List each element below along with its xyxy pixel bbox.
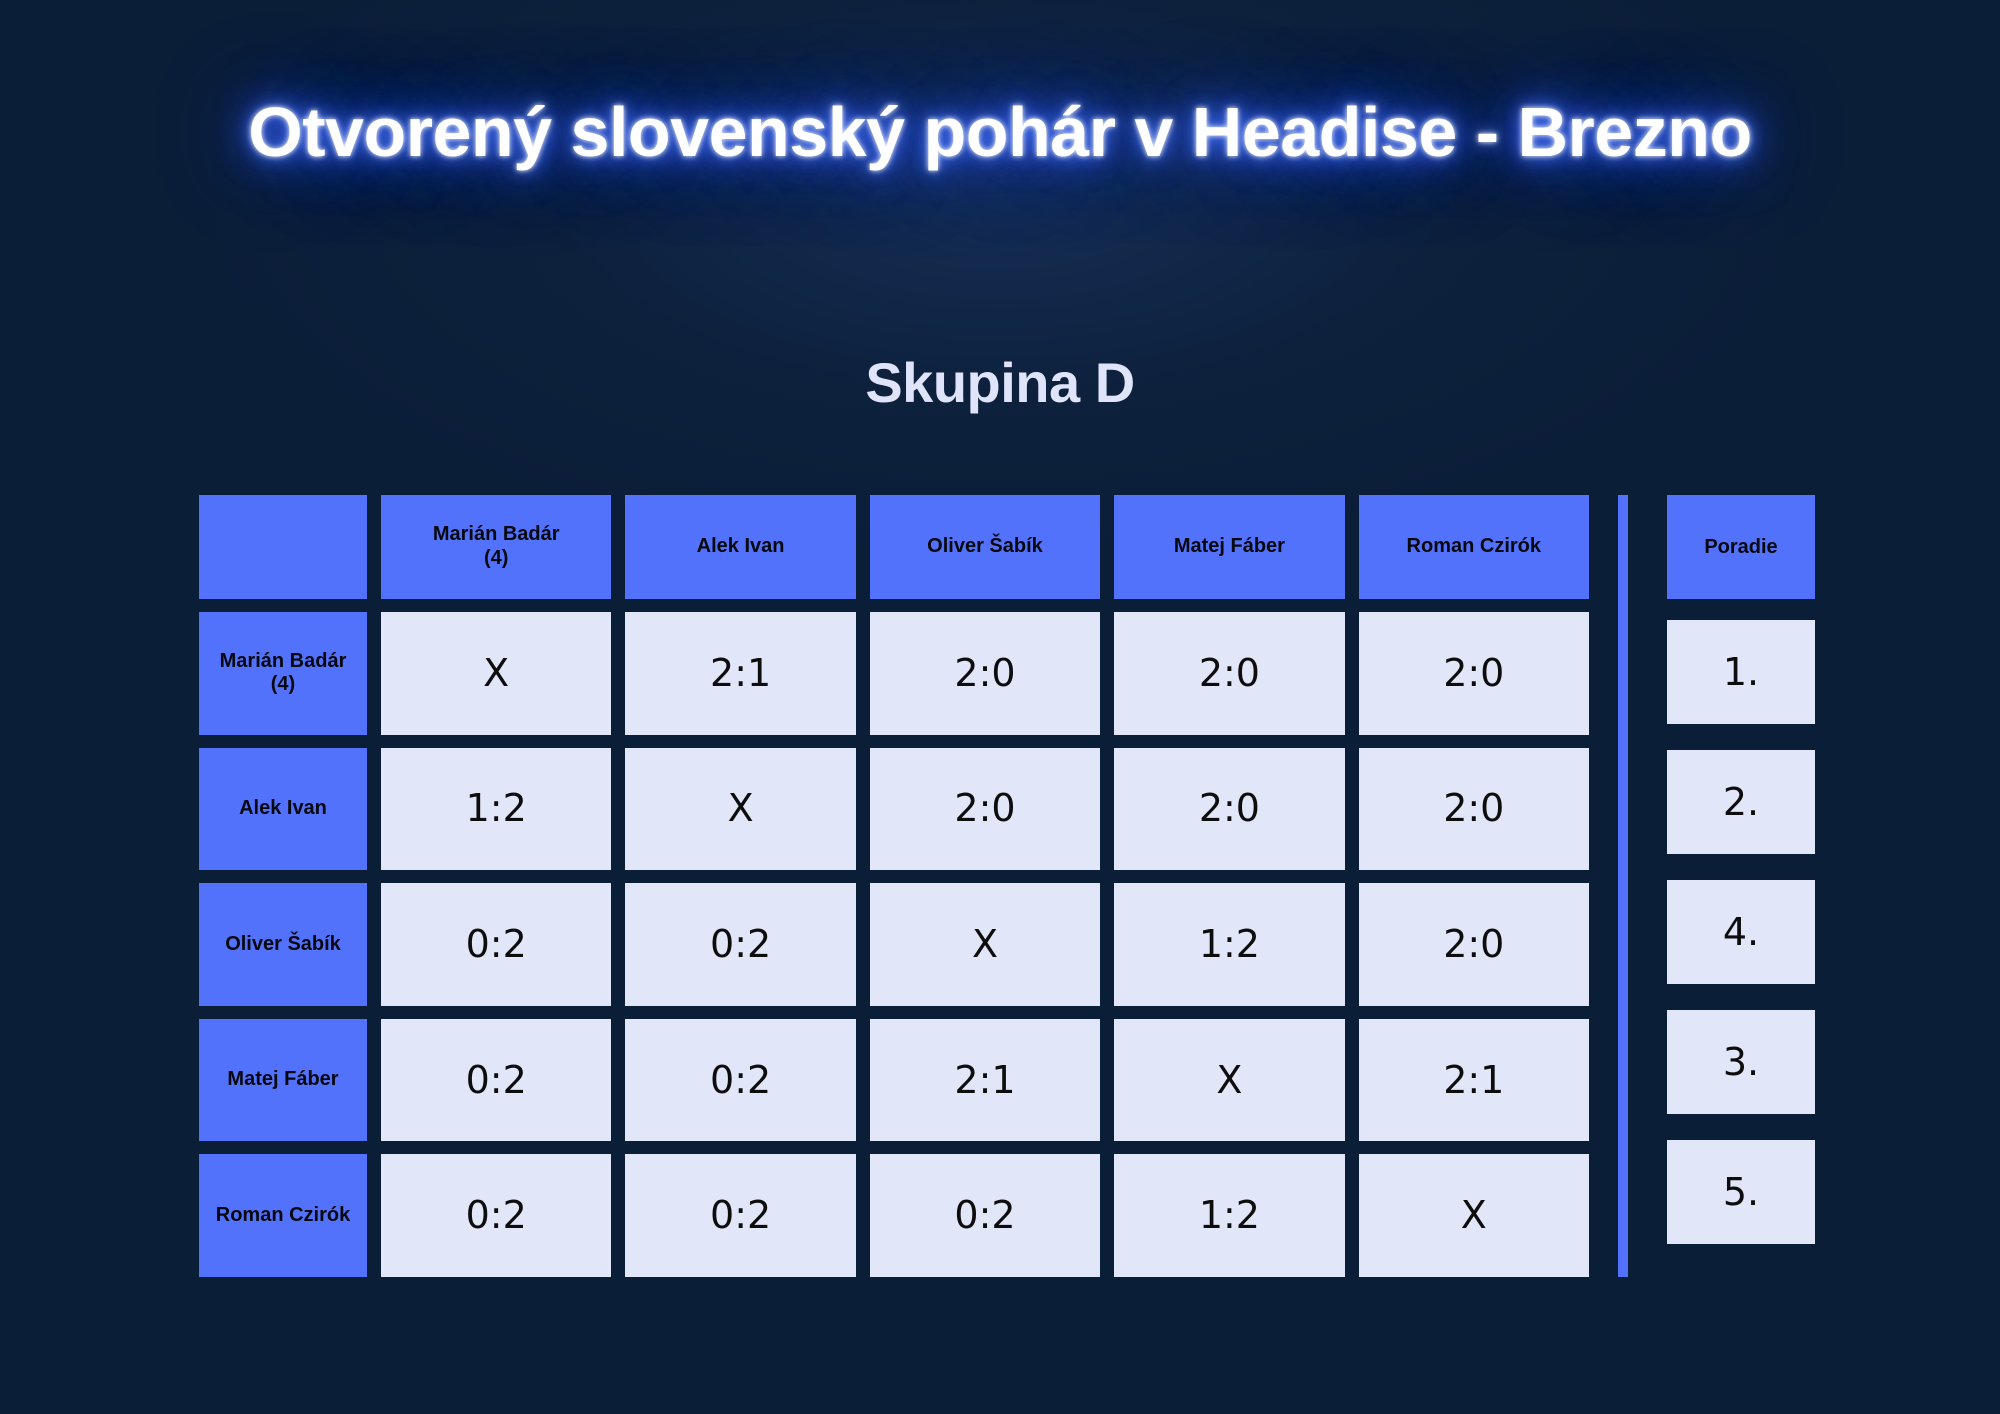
column-header-player-1: Marián Badár(4) [381,495,611,599]
row-header-player-3: Oliver Šabík [199,883,367,1006]
rank-value: 3. [1667,1010,1815,1114]
result-cell: X [625,748,855,871]
rank-column-divider [1618,495,1628,1277]
result-cell: X [381,612,611,735]
result-cell: 1:2 [1114,1154,1344,1277]
result-cell: 2:0 [1359,883,1589,1006]
row-header-player-2: Alek Ivan [199,748,367,871]
result-cell: 2:0 [870,612,1100,735]
tournament-group-page: Otvorený slovenský pohár v Headise - Bre… [0,0,2000,1414]
result-cell: 0:2 [625,1154,855,1277]
results-grid: Marián Badár(4) Alek Ivan Oliver Šabík M… [199,495,1589,1277]
rank-value: 1. [1667,620,1815,724]
result-cell: 0:2 [625,883,855,1006]
result-cell: X [1114,1019,1344,1142]
result-cell: 0:2 [625,1019,855,1142]
column-header-player-5: Roman Czirók [1359,495,1589,599]
result-cell: 2:0 [870,748,1100,871]
result-cell: 2:0 [1114,612,1344,735]
standings-table: Marián Badár(4) Alek Ivan Oliver Šabík M… [199,495,1815,1277]
group-subtitle: Skupina D [0,350,2000,415]
result-cell: 2:1 [1359,1019,1589,1142]
column-header-player-2: Alek Ivan [625,495,855,599]
result-cell: 2:0 [1114,748,1344,871]
result-cell: 1:2 [381,748,611,871]
row-header-player-4: Matej Fáber [199,1019,367,1142]
result-cell: 0:2 [381,1154,611,1277]
result-cell: 2:1 [625,612,855,735]
result-cell: X [1359,1154,1589,1277]
column-header-player-3: Oliver Šabík [870,495,1100,599]
result-cell: 2:0 [1359,612,1589,735]
rank-column: Poradie 1. 2. 4. 3. 5. [1667,495,1815,1277]
result-cell: 2:1 [870,1019,1100,1142]
row-header-player-5: Roman Czirók [199,1154,367,1277]
result-cell: 0:2 [870,1154,1100,1277]
table-corner-cell [199,495,367,599]
result-cell: 0:2 [381,883,611,1006]
column-header-player-4: Matej Fáber [1114,495,1344,599]
rank-value: 5. [1667,1140,1815,1244]
page-title: Otvorený slovenský pohár v Headise - Bre… [0,92,2000,172]
rank-value: 4. [1667,880,1815,984]
rank-value: 2. [1667,750,1815,854]
result-cell: X [870,883,1100,1006]
row-header-player-1: Marián Badár(4) [199,612,367,735]
result-cell: 1:2 [1114,883,1344,1006]
result-cell: 2:0 [1359,748,1589,871]
result-cell: 0:2 [381,1019,611,1142]
rank-column-header: Poradie [1667,495,1815,599]
